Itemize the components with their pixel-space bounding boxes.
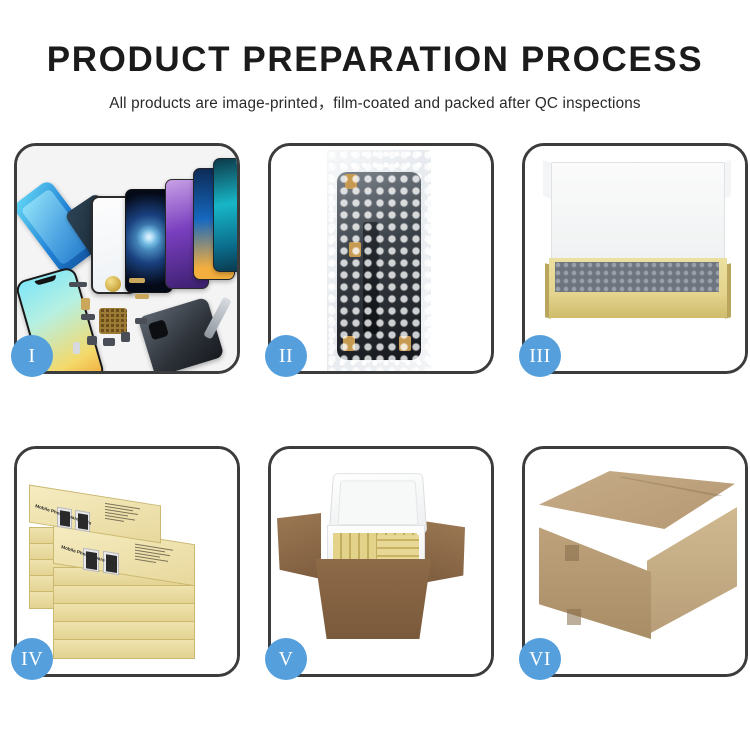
stacked-box: [53, 639, 195, 659]
step-image-6: [525, 449, 745, 674]
foam-padding-insert: [555, 262, 719, 292]
step-badge-3: III: [519, 335, 561, 377]
spare-part-chip: [135, 318, 147, 324]
step-badge-6: VI: [519, 638, 561, 680]
carton-body: [315, 559, 431, 639]
step-panel-1[interactable]: I: [14, 143, 240, 374]
spare-part-chip: [121, 332, 130, 342]
step-image-4: Mobile Phone Spare Parts Mobile Phone Sp…: [17, 449, 237, 674]
phone-display-teal: [213, 158, 237, 272]
step-panel-2[interactable]: II: [268, 143, 494, 374]
page-subtitle: All products are image-printed，film-coat…: [0, 91, 750, 113]
tape-tab: [349, 242, 361, 257]
step-panel-3[interactable]: III: [522, 143, 748, 374]
carton-tape-mark: [565, 545, 579, 561]
spare-part-sim-tray: [73, 342, 80, 354]
stacked-box: [53, 585, 195, 605]
screen-flex-cable: [363, 222, 379, 334]
process-row-top: I II: [14, 143, 740, 378]
stacked-box: [53, 603, 195, 623]
step-image-5: [271, 449, 491, 674]
tape-tab: [345, 174, 357, 189]
box-front-panel: [549, 292, 727, 318]
step-badge-2: II: [265, 335, 307, 377]
header: PRODUCT PREPARATION PROCESS All products…: [0, 0, 750, 113]
step-panel-4[interactable]: Mobile Phone Spare Parts Mobile Phone Sp…: [14, 446, 240, 677]
step-panel-6[interactable]: VI: [522, 446, 748, 677]
carton-flap-right: [423, 521, 465, 583]
speaker-part-icon: [105, 276, 121, 292]
carton-front-face: [539, 515, 651, 639]
product-preparation-infographic: PRODUCT PREPARATION PROCESS All products…: [0, 0, 750, 750]
spare-part-flex-cable: [135, 294, 149, 299]
spare-part-flex-cable: [81, 298, 90, 310]
packed-screen-assembly: [337, 172, 421, 360]
process-row-bottom: Mobile Phone Spare Parts Mobile Phone Sp…: [14, 446, 740, 681]
step-image-2: [271, 146, 491, 371]
step-badge-1: I: [11, 335, 53, 377]
connector-board-part: [99, 308, 127, 334]
step-badge-5: V: [265, 638, 307, 680]
box-lid-open: [551, 162, 725, 272]
step-image-3: [525, 146, 745, 371]
page-title: PRODUCT PREPARATION PROCESS: [0, 42, 750, 77]
step-panel-5[interactable]: V: [268, 446, 494, 677]
step-badge-4: IV: [11, 638, 53, 680]
tape-tab: [343, 336, 355, 351]
spare-part-chip: [81, 314, 95, 320]
spare-part-chip: [69, 282, 87, 287]
spare-part-chip: [87, 336, 97, 345]
spare-part-chip: [103, 338, 115, 346]
tape-tab: [399, 336, 411, 351]
process-steps-grid: I II: [14, 143, 740, 749]
carton-tape-mark: [567, 609, 581, 625]
spare-part-flex-cable: [129, 278, 145, 283]
carton-flap-left: [277, 513, 321, 579]
stacked-box: [53, 621, 195, 641]
step-image-1: [17, 146, 237, 371]
